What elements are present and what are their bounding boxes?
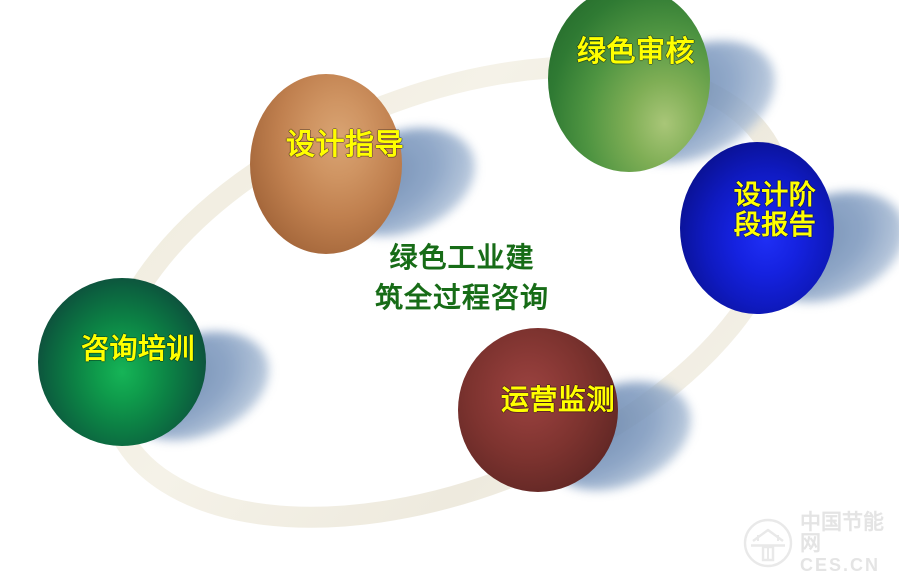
bubble-node-red[interactable]: 运营监测 [458, 328, 658, 500]
ces-logo-icon [742, 517, 794, 569]
bubble-node-blue[interactable]: 设计阶 段报告 [680, 142, 870, 322]
watermark-site-name-cn: 中国节能网 [800, 512, 899, 554]
bubble-label-brown: 设计指导 [250, 129, 440, 161]
watermark: 中国节能网 CES.CN [742, 512, 899, 574]
watermark-site-name-en: CES.CN [800, 556, 899, 574]
bubble-sphere-brown[interactable] [250, 74, 402, 254]
bubble-label-red: 运营监测 [458, 384, 658, 415]
center-title: 绿色工业建 筑全过程咨询 [330, 238, 594, 318]
bubble-label-blue: 设计阶 段报告 [680, 180, 870, 240]
bubble-label-green: 绿色审核 [548, 36, 724, 68]
bubble-label-teal: 咨询培训 [38, 333, 238, 364]
diagram-canvas: 咨询培训 设计指导 绿色审核 设计阶 段报告 运营监测 绿色工业建 筑全过程咨询 [0, 0, 899, 584]
bubble-node-teal[interactable]: 咨询培训 [38, 278, 238, 450]
bubble-node-brown[interactable]: 设计指导 [250, 74, 440, 254]
